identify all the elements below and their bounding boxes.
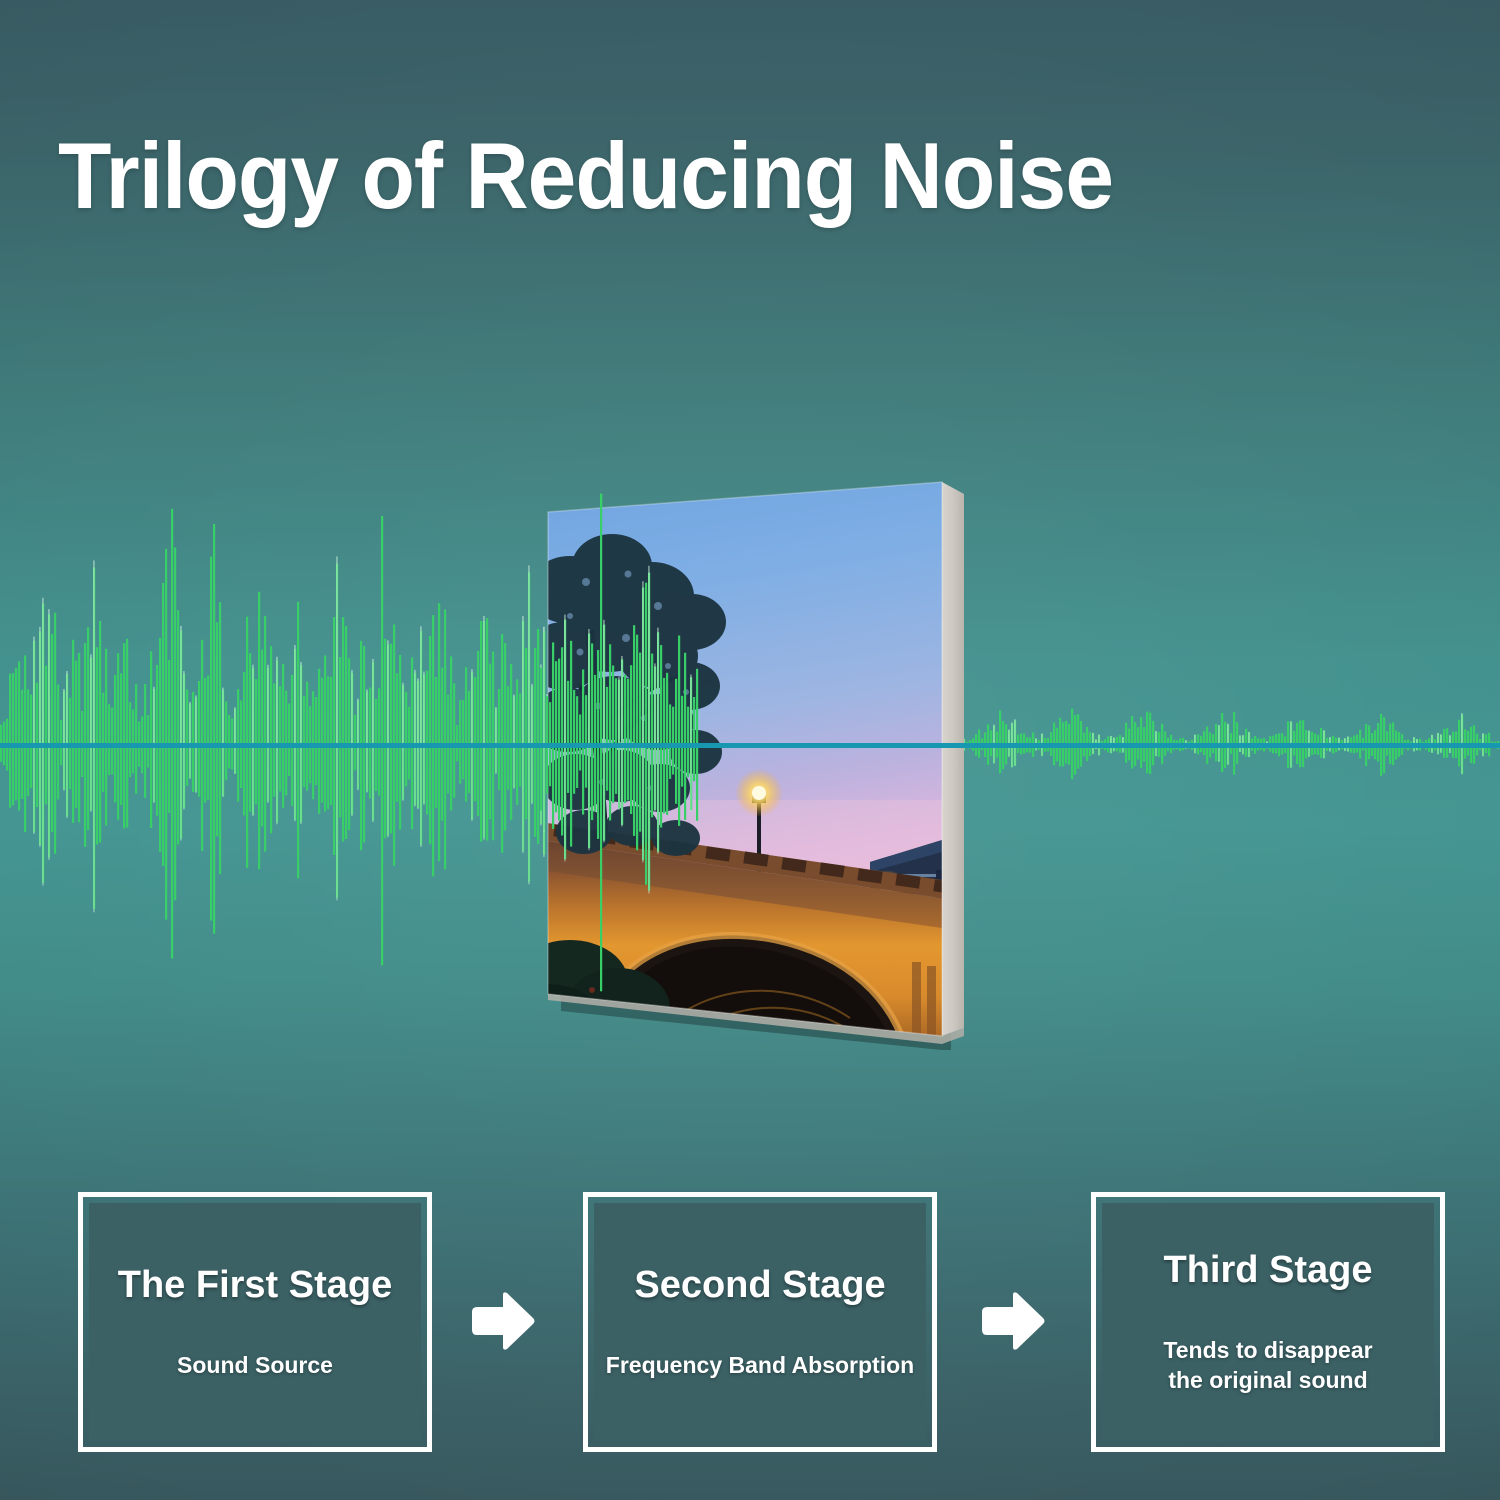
canvas-print-svg <box>540 470 970 1050</box>
stage-box-third[interactable]: Third Stage Tends to disappear the origi… <box>1091 1192 1445 1452</box>
stage-third-subtitle-line1: Tends to disappear <box>1163 1336 1372 1365</box>
arrow-right-icon <box>980 1290 1046 1352</box>
stage-box-third-inner: Third Stage Tends to disappear the origi… <box>1102 1203 1434 1441</box>
stage-third-subtitle-line2: the original sound <box>1163 1366 1372 1395</box>
arrow-first-to-second <box>470 1290 536 1352</box>
arrow-second-to-third <box>980 1290 1046 1352</box>
canvas-artwork <box>540 470 970 1050</box>
stage-box-first[interactable]: The First Stage Sound Source <box>78 1192 432 1452</box>
stage-first-subtitle: Sound Source <box>177 1351 333 1380</box>
canvas-print-product <box>540 470 970 1050</box>
stage-third-subtitle: Tends to disappear the original sound <box>1163 1336 1372 1395</box>
stage-box-second[interactable]: Second Stage Frequency Band Absorption <box>583 1192 937 1452</box>
page-title: Trilogy of Reducing Noise <box>58 128 1341 224</box>
stage-box-second-inner: Second Stage Frequency Band Absorption <box>594 1203 926 1441</box>
stage-first-subtitle-line1: Sound Source <box>177 1351 333 1380</box>
canvas-side-edge <box>942 482 964 1036</box>
stage-second-subtitle: Frequency Band Absorption <box>606 1351 914 1380</box>
arrow-right-icon <box>470 1290 536 1352</box>
stage-first-title: The First Stage <box>118 1264 393 1307</box>
stage-third-title: Third Stage <box>1163 1249 1372 1292</box>
infographic-canvas: Trilogy of Reducing Noise <box>0 0 1500 1500</box>
stage-box-first-inner: The First Stage Sound Source <box>89 1203 421 1441</box>
stage-second-title: Second Stage <box>634 1264 885 1307</box>
stage-second-subtitle-line1: Frequency Band Absorption <box>606 1351 914 1380</box>
